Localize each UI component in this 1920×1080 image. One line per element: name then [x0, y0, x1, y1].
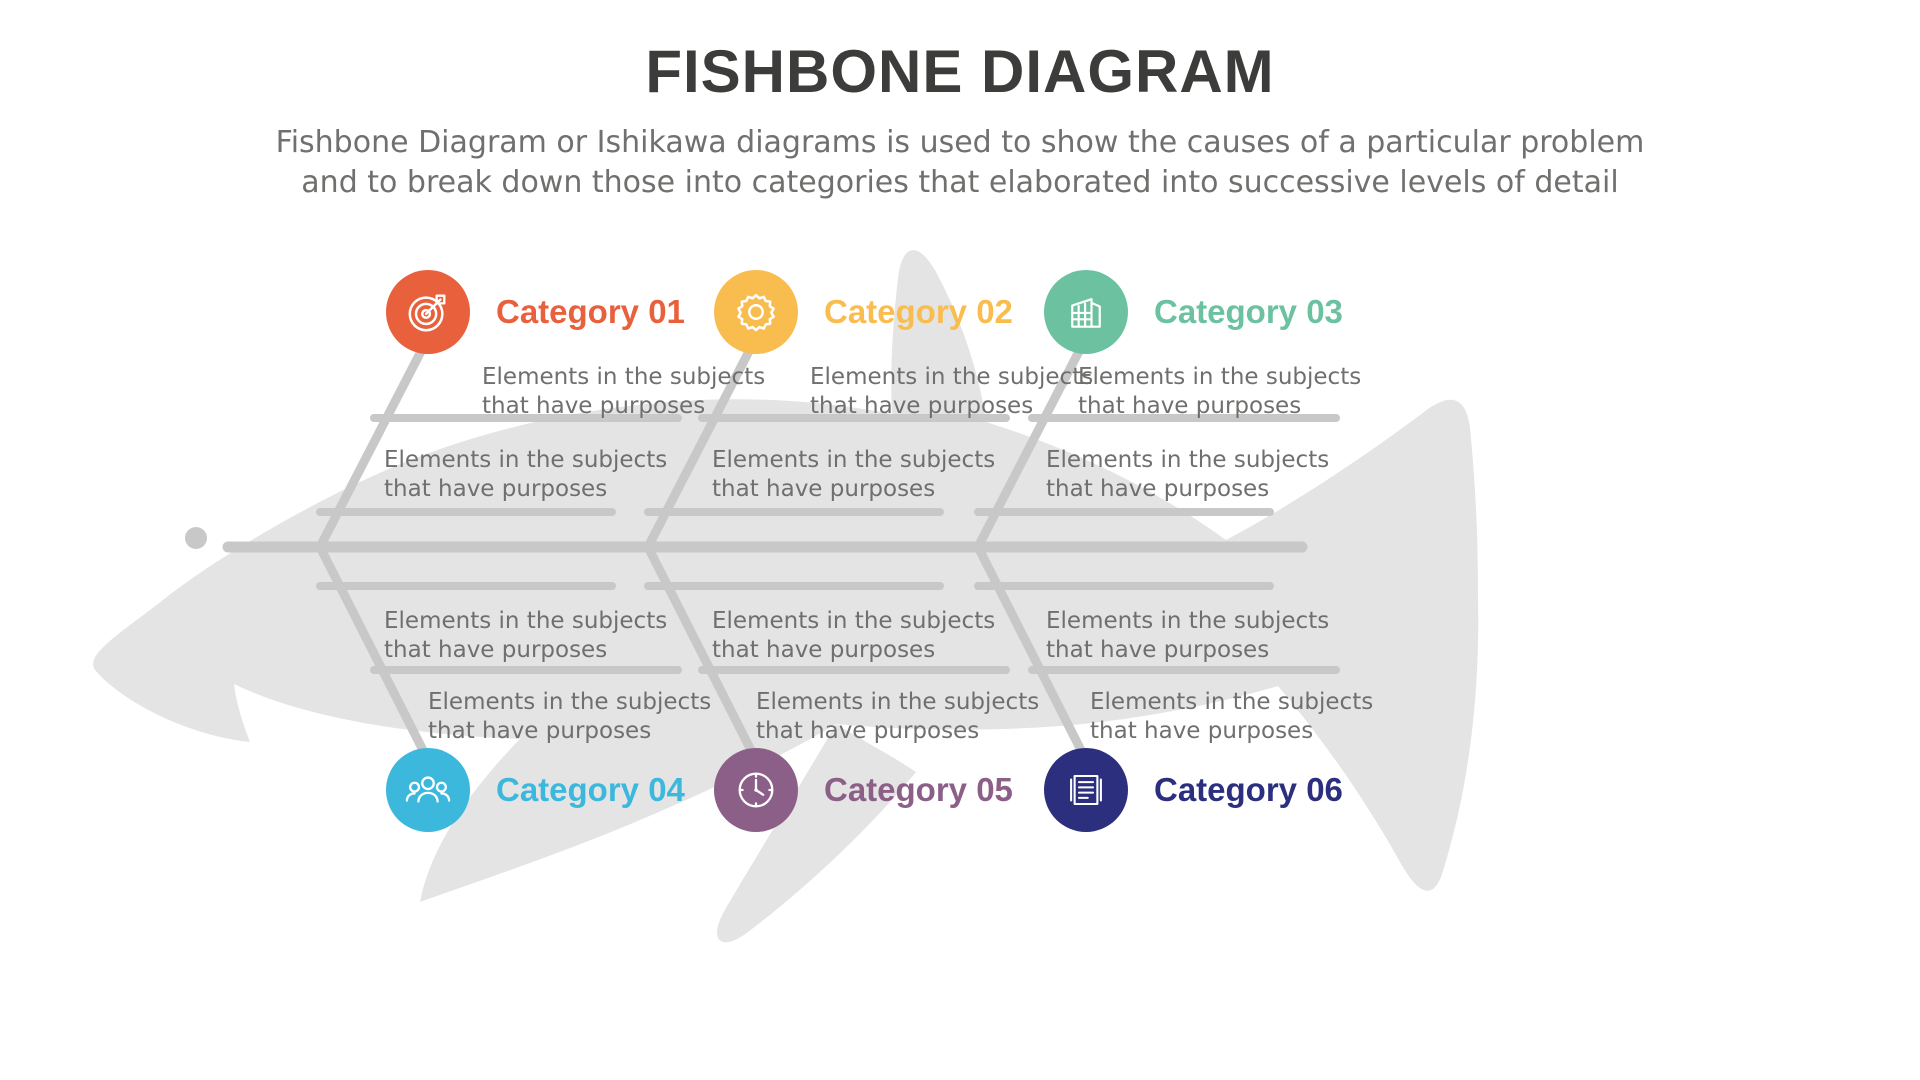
fish-eye-icon: [185, 527, 207, 549]
category-01-label: Category 01: [496, 293, 685, 331]
category-04-label: Category 04: [496, 771, 685, 809]
element-line-1: Elements in the subjects: [712, 446, 995, 475]
building-icon: [1064, 290, 1108, 334]
category-05-element-1: Elements in the subjects that have purpo…: [712, 607, 995, 666]
element-line-2: that have purposes: [1046, 475, 1329, 504]
category-02-element-1: Elements in the subjects that have purpo…: [810, 363, 1093, 422]
element-line-1: Elements in the subjects: [712, 607, 995, 636]
category-03-element-1: Elements in the subjects that have purpo…: [1078, 363, 1361, 422]
document-icon: [1065, 769, 1107, 811]
category-04-bubble[interactable]: [386, 748, 470, 832]
element-line-2: that have purposes: [1046, 636, 1329, 665]
element-line-1: Elements in the subjects: [810, 363, 1093, 392]
category-03-label: Category 03: [1154, 293, 1343, 331]
category-node-02[interactable]: Category 02: [714, 270, 1013, 354]
category-05-element-2: Elements in the subjects that have purpo…: [756, 688, 1039, 747]
category-02-element-2: Elements in the subjects that have purpo…: [712, 446, 995, 505]
element-line-2: that have purposes: [810, 392, 1093, 421]
target-icon: [405, 289, 451, 335]
element-line-2: that have purposes: [756, 717, 1039, 746]
element-line-1: Elements in the subjects: [384, 446, 667, 475]
element-line-2: that have purposes: [1090, 717, 1373, 746]
element-line-2: that have purposes: [1078, 392, 1361, 421]
category-01-element-2: Elements in the subjects that have purpo…: [384, 446, 667, 505]
category-04-element-1: Elements in the subjects that have purpo…: [384, 607, 667, 666]
category-06-bubble[interactable]: [1044, 748, 1128, 832]
category-node-06[interactable]: Category 06: [1044, 748, 1343, 832]
element-line-1: Elements in the subjects: [1046, 607, 1329, 636]
category-03-element-2: Elements in the subjects that have purpo…: [1046, 446, 1329, 505]
element-line-1: Elements in the subjects: [1046, 446, 1329, 475]
element-line-1: Elements in the subjects: [482, 363, 765, 392]
element-line-1: Elements in the subjects: [384, 607, 667, 636]
element-line-2: that have purposes: [384, 636, 667, 665]
category-node-05[interactable]: Category 05: [714, 748, 1013, 832]
element-line-1: Elements in the subjects: [1078, 363, 1361, 392]
category-node-04[interactable]: Category 04: [386, 748, 685, 832]
people-icon: [405, 767, 451, 813]
element-line-2: that have purposes: [482, 392, 765, 421]
element-line-2: that have purposes: [712, 475, 995, 504]
element-line-2: that have purposes: [384, 475, 667, 504]
element-line-2: that have purposes: [712, 636, 995, 665]
clock-icon: [733, 767, 779, 813]
category-06-label: Category 06: [1154, 771, 1343, 809]
category-06-element-1: Elements in the subjects that have purpo…: [1046, 607, 1329, 666]
category-02-label: Category 02: [824, 293, 1013, 331]
category-04-element-2: Elements in the subjects that have purpo…: [428, 688, 711, 747]
category-05-bubble[interactable]: [714, 748, 798, 832]
category-03-bubble[interactable]: [1044, 270, 1128, 354]
element-line-1: Elements in the subjects: [428, 688, 711, 717]
category-01-element-1: Elements in the subjects that have purpo…: [482, 363, 765, 422]
category-node-03[interactable]: Category 03: [1044, 270, 1343, 354]
fishbone-diagram: Category 01 Elements in the subjects tha…: [0, 0, 1920, 1080]
category-05-label: Category 05: [824, 771, 1013, 809]
element-line-2: that have purposes: [428, 717, 711, 746]
category-node-01[interactable]: Category 01: [386, 270, 685, 354]
category-06-element-2: Elements in the subjects that have purpo…: [1090, 688, 1373, 747]
fishbone-graphics: [0, 0, 1920, 1080]
element-line-1: Elements in the subjects: [1090, 688, 1373, 717]
category-02-bubble[interactable]: [714, 270, 798, 354]
element-line-1: Elements in the subjects: [756, 688, 1039, 717]
category-01-bubble[interactable]: [386, 270, 470, 354]
fishbone-infographic: FISHBONE DIAGRAM Fishbone Diagram or Ish…: [0, 0, 1920, 1080]
gear-icon: [733, 289, 779, 335]
